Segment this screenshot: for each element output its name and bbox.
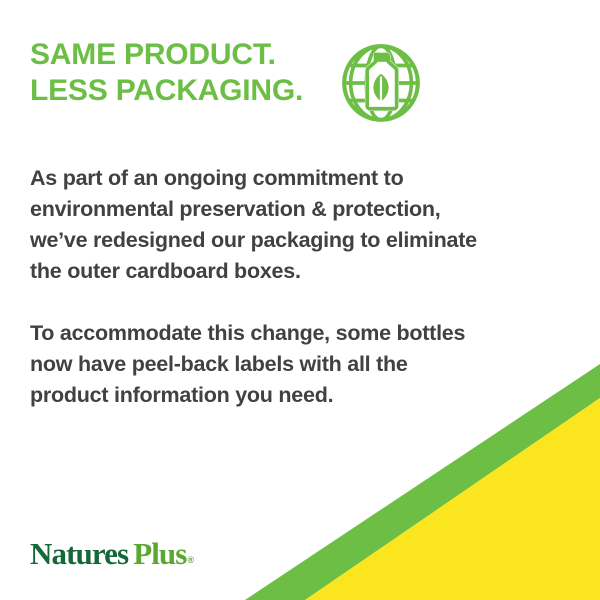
paragraph-1-line-1: As part of an ongoing commitment to bbox=[30, 163, 560, 194]
corner-yellow-triangle bbox=[305, 398, 600, 600]
promo-card: SAME PRODUCT. LESS PACKAGING. bbox=[0, 0, 600, 600]
brand-logo: Natures Plus ® bbox=[30, 536, 192, 572]
headline-block: SAME PRODUCT. LESS PACKAGING. bbox=[30, 37, 570, 129]
body-paragraph-1: As part of an ongoing commitment to envi… bbox=[30, 163, 560, 287]
registered-trademark-icon: ® bbox=[187, 555, 193, 565]
page-title: SAME PRODUCT. LESS PACKAGING. bbox=[30, 37, 303, 109]
globe-bottle-leaf-icon bbox=[335, 37, 427, 129]
logo-word-natures: Natures bbox=[30, 536, 128, 572]
headline-line-1: SAME PRODUCT. bbox=[30, 37, 303, 73]
headline-line-2: LESS PACKAGING. bbox=[30, 73, 303, 109]
paragraph-1-line-3: we’ve redesigned our packaging to elimin… bbox=[30, 225, 560, 256]
paragraph-1-line-4: the outer cardboard boxes. bbox=[30, 256, 560, 287]
logo-word-plus: Plus bbox=[133, 536, 186, 572]
paragraph-2-line-3: product information you need. bbox=[30, 380, 560, 411]
paragraph-2-line-1: To accommodate this change, some bottles bbox=[30, 318, 560, 349]
paragraph-1-line-2: environmental preservation & protection, bbox=[30, 194, 560, 225]
body-paragraph-2: To accommodate this change, some bottles… bbox=[30, 318, 560, 411]
paragraph-2-line-2: now have peel-back labels with all the bbox=[30, 349, 560, 380]
